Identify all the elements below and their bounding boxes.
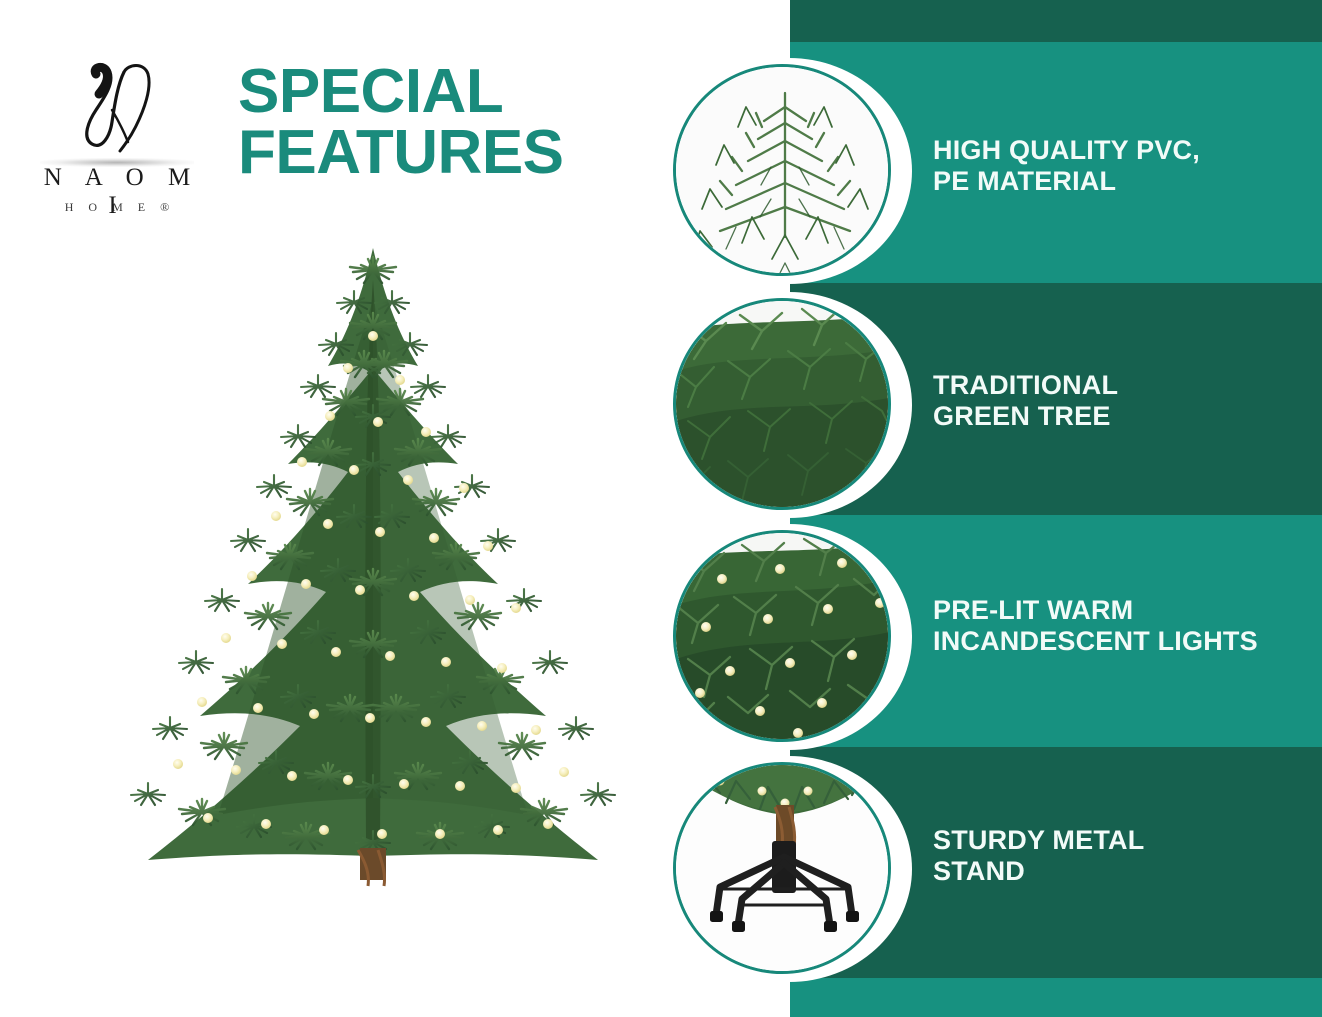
feature-label-2: TRADITIONAL GREEN TREE [933,370,1313,433]
band-bottom-cap [790,978,1322,1017]
feature-label-1: HIGH QUALITY PVC, PE MATERIAL [933,135,1313,198]
tree-branch-closeup-icon [676,67,888,273]
brand-logo: N A O M I H O M E ® [22,58,212,218]
feature-circle-1 [666,58,912,284]
page-title: SPECIAL FEATURES [238,62,564,184]
band-top-cap [790,0,1322,42]
brand-sub: H O M E ® [22,200,212,215]
tree-lights-closeup-icon [676,533,888,739]
feature-label-3: PRE-LIT WARM INCANDESCENT LIGHTS [933,595,1313,658]
feature-circle-2-teal-ring [673,298,891,510]
naomi-monogram-icon [52,58,182,158]
feature-circle-2 [666,292,912,518]
feature-circle-1-teal-ring [673,64,891,276]
feature-label-4: STURDY METAL STAND [933,825,1313,888]
feature-circle-3-teal-ring [673,530,891,742]
feature-circle-4-teal-ring [673,762,891,974]
hero-tree-image [78,240,668,980]
tree-foliage-closeup-icon [676,301,888,507]
feature-circle-3 [666,524,912,750]
tree-stand-closeup-icon [676,765,888,971]
feature-circle-4 [666,756,912,982]
